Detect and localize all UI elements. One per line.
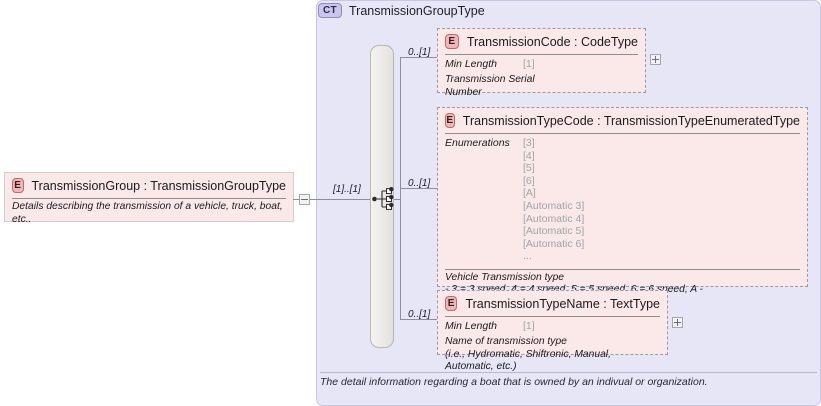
facet-value: [Automatic 6] — [523, 238, 584, 250]
element-header: E TransmissionTypeCode : TransmissionTyp… — [438, 108, 807, 133]
facet-value: [Automatic 3] — [523, 200, 584, 212]
complex-type-header: CT TransmissionGroupType — [318, 3, 485, 18]
facet-label: Min Length — [445, 320, 523, 332]
facet-value: [1] — [523, 320, 535, 332]
connector-branch-vertical — [400, 57, 401, 200]
schema-diagram-canvas: CT TransmissionGroupType The detail info… — [0, 0, 821, 406]
facet-value: [A] — [523, 187, 536, 199]
root-element-title: TransmissionGroup : TransmissionGroupTyp… — [32, 179, 287, 193]
cardinality-child-1: 0..[1] — [408, 47, 430, 58]
element-facet: Min Length [1] — [438, 317, 667, 334]
facet-value: [1] — [523, 58, 535, 70]
element-badge: E — [12, 178, 24, 193]
element-box-transmission-type-code[interactable]: E TransmissionTypeCode : TransmissionTyp… — [437, 107, 808, 287]
connector-compositor-stub — [394, 199, 401, 200]
facet-value: ... — [523, 250, 532, 262]
facet-value: [Automatic 5] — [523, 225, 584, 237]
facet-value: [3] — [523, 137, 535, 149]
facet-value: [5] — [523, 162, 535, 174]
element-header: E TransmissionTypeName : TextType — [438, 291, 667, 316]
connector-root-to-compositor — [310, 199, 370, 200]
element-documentation: Name of transmission type (i.e., Hydroma… — [438, 334, 667, 379]
element-documentation: Transmission Serial Number — [438, 72, 645, 104]
facet-value: [Automatic 4] — [523, 213, 584, 225]
element-title: TransmissionTypeCode : TransmissionTypeE… — [463, 114, 800, 128]
element-facet: Min Length [1] — [438, 55, 645, 72]
facet-value: [6] — [523, 175, 535, 187]
element-badge: E — [445, 113, 455, 128]
facet-label: Min Length — [445, 58, 523, 70]
element-title: TransmissionTypeName : TextType — [465, 297, 660, 311]
facet-values-list: [3] [4] [5] [6] [A] [Automatic 3] [Autom… — [523, 137, 584, 263]
element-badge: E — [445, 296, 457, 311]
sequence-compositor-icon — [372, 186, 394, 212]
root-element-header: E TransmissionGroup : TransmissionGroupT… — [5, 173, 293, 198]
connector-branch-vertical-lower — [400, 199, 401, 319]
element-box-transmission-code[interactable]: E TransmissionCode : CodeType Min Length… — [437, 28, 646, 93]
facet-value: [4] — [523, 150, 535, 162]
connector-root-stub — [293, 199, 300, 200]
facet-label: Enumerations — [445, 137, 523, 263]
element-badge: E — [445, 34, 459, 49]
element-header: E TransmissionCode : CodeType — [438, 29, 645, 54]
expand-toggle-transmission-code[interactable] — [650, 54, 661, 65]
element-facet: Enumerations [3] [4] [5] [6] [A] [Automa… — [438, 134, 807, 265]
element-title: TransmissionCode : CodeType — [467, 35, 638, 49]
expand-toggle-transmission-type-name[interactable] — [672, 317, 683, 328]
complex-type-badge: CT — [318, 3, 342, 18]
root-element-documentation: Details describing the transmission of a… — [5, 199, 293, 231]
complex-type-title: TransmissionGroupType — [349, 4, 485, 18]
collapse-toggle-root[interactable] — [299, 194, 310, 205]
root-element-box[interactable]: E TransmissionGroup : TransmissionGroupT… — [4, 172, 294, 222]
cardinality-child-2: 0..[1] — [408, 178, 430, 189]
cardinality-root: [1]..[1] — [333, 184, 361, 195]
element-box-transmission-type-name[interactable]: E TransmissionTypeName : TextType Min Le… — [437, 290, 668, 355]
cardinality-child-3: 0..[1] — [408, 309, 430, 320]
